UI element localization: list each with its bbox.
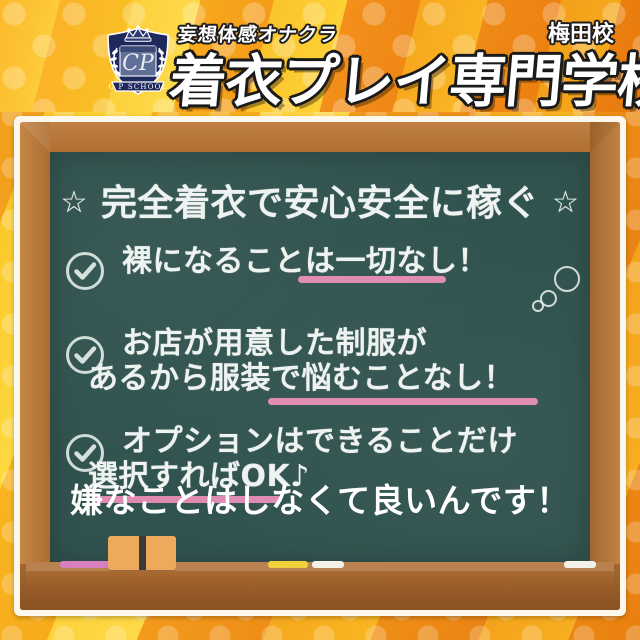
pink-underline	[298, 276, 446, 283]
bubble-large	[554, 266, 580, 292]
benefit-line: あるから服装で悩むことなし！	[88, 361, 514, 396]
bubble-small	[532, 300, 544, 312]
closing-message: 嫌なことはしなくて良いんです！	[50, 474, 590, 522]
school-crest-logo: CP	[98, 22, 178, 100]
board-headline: ☆ 完全着衣で安心安全に稼ぐ ☆	[50, 174, 590, 226]
pink-chalk[interactable]	[60, 561, 114, 568]
eraser-band	[139, 536, 146, 570]
chalkboard-wood-frame: ☆ 完全着衣で安心安全に稼ぐ ☆ 裸になることは一切なし！	[20, 122, 620, 610]
benefit-item-2-lines: お店が用意した制服が あるから服装で悩むことなし！	[122, 326, 514, 397]
header-title: 着衣プレイ専門学校	[166, 36, 640, 112]
crest-ribbon-text: C P SCHOOL	[109, 83, 168, 91]
white-chalk[interactable]	[312, 561, 344, 568]
wood-frame-left	[20, 122, 50, 610]
pink-underline	[268, 398, 538, 405]
check-circle-icon	[64, 250, 106, 292]
benefit-line: 裸になることは一切なし！	[122, 244, 488, 279]
chalkboard-surface: ☆ 完全着衣で安心安全に稼ぐ ☆ 裸になることは一切なし！	[50, 152, 590, 564]
wood-miter-top-right	[590, 122, 620, 152]
header-text-block: 妄想体感オナクラ 梅田校 着衣プレイ専門学校	[170, 14, 630, 110]
star-icon-left: ☆	[61, 185, 88, 220]
benefit-line: オプションはできることだけ	[122, 424, 518, 459]
star-icon-right: ☆	[552, 185, 579, 220]
svg-text:CP: CP	[122, 51, 155, 76]
header-banner: CP	[0, 0, 640, 112]
benefit-line: お店が用意した制服が	[122, 326, 514, 361]
white-chalk-right[interactable]	[564, 561, 596, 568]
wood-miter-top-left	[20, 122, 50, 152]
chalkboard-panel: ☆ 完全着衣で安心安全に稼ぐ ☆ 裸になることは一切なし！	[14, 116, 626, 616]
wood-frame-right	[590, 122, 620, 610]
benefit-item-1-lines: 裸になることは一切なし！	[122, 244, 488, 279]
blackboard-eraser[interactable]	[108, 536, 176, 570]
board-headline-text: 完全着衣で安心安全に稼ぐ	[101, 183, 539, 224]
yellow-chalk[interactable]	[268, 561, 308, 568]
poster-canvas: CP	[0, 0, 640, 640]
